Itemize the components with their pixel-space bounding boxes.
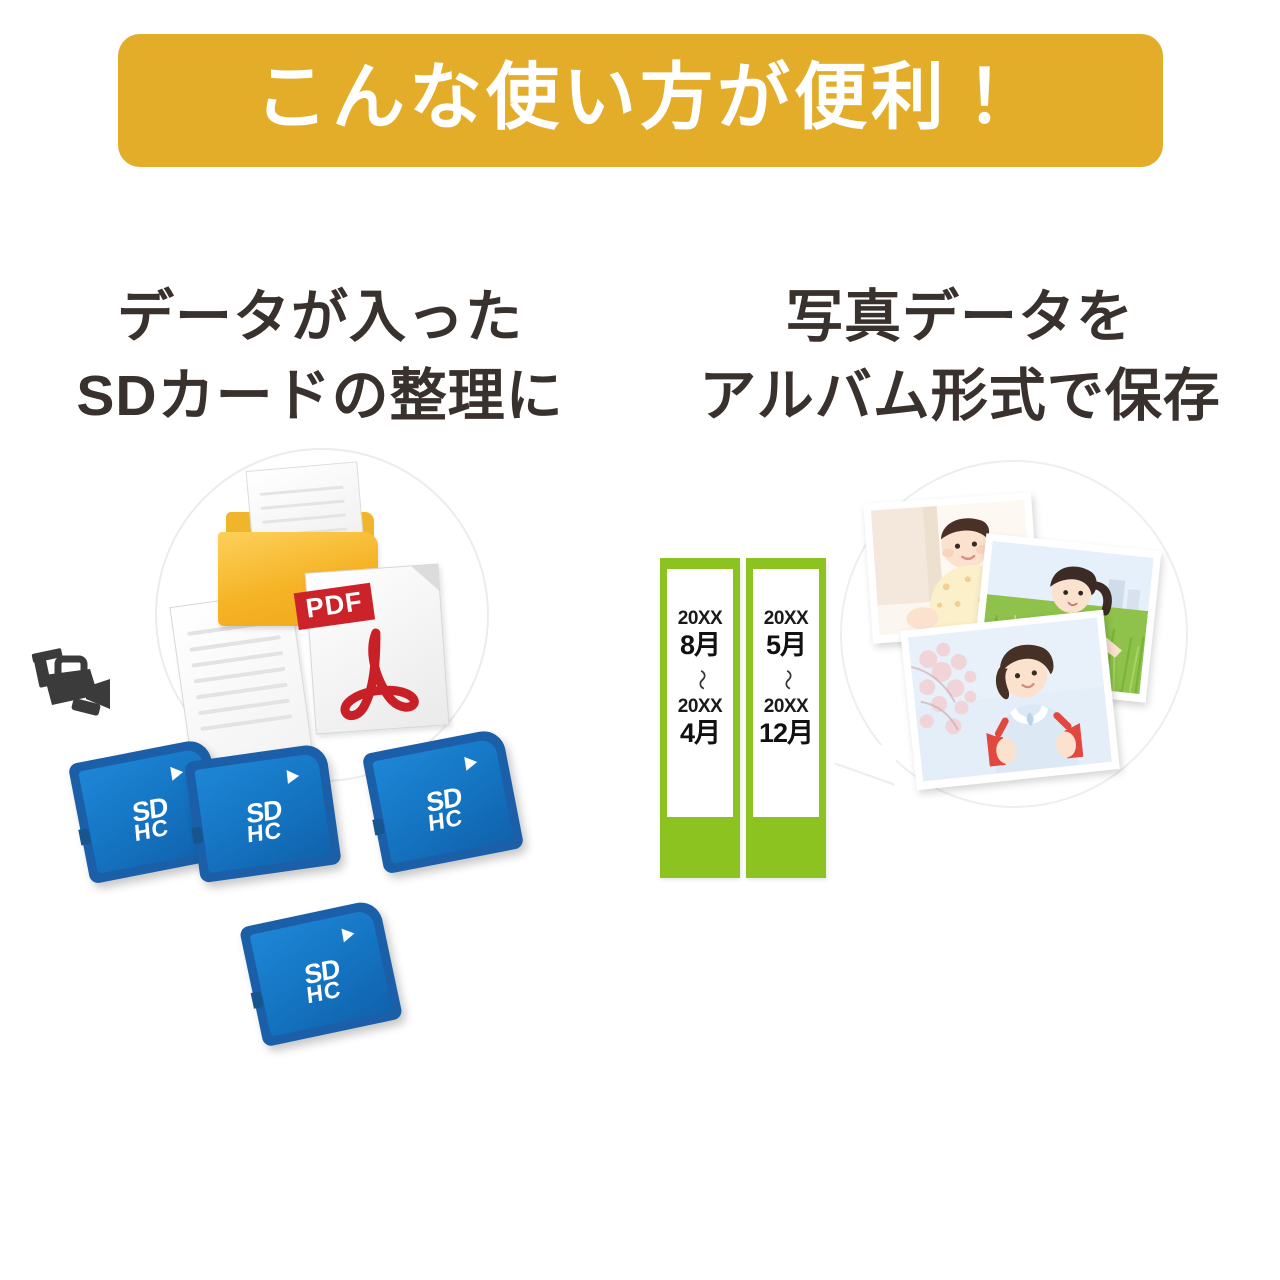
sd-card-4: SD HC	[239, 899, 403, 1048]
header-banner-title: こんな使い方が便利！	[255, 61, 1025, 140]
sd-card-logo: SD HC	[382, 777, 507, 842]
spine-end-year: 20XX	[678, 697, 722, 718]
left-illustration: PDF SD HC	[0, 430, 640, 1130]
binder-spine-left-label: 20XX 8月 〜 20XX 4月	[667, 569, 733, 817]
spine-end-year: 20XX	[764, 697, 808, 718]
right-column-heading: 写真データを アルバム形式で保存	[640, 278, 1280, 435]
left-column-heading: データが入った SDカードの整理に	[0, 278, 640, 435]
left-heading-line1: データが入った	[117, 285, 523, 349]
sd-card-2: SD HC	[184, 743, 342, 884]
spine-end-month: 4月	[680, 718, 720, 749]
binder-spines: 20XX 8月 〜 20XX 4月 20XX 5月 〜 20XX 12月	[660, 558, 835, 878]
sd-corner-marker-icon	[341, 926, 355, 942]
content-columns: データが入った SDカードの整理に	[0, 200, 1280, 1280]
spine-range-separator: 〜	[684, 669, 716, 690]
spine-start-year: 20XX	[764, 609, 808, 630]
file-icon-cluster: PDF	[160, 450, 490, 780]
column-photo-album: 写真データを アルバム形式で保存	[640, 200, 1280, 1280]
camera-icon	[28, 635, 114, 731]
right-illustration: 20XX 8月 〜 20XX 4月 20XX 5月 〜 20XX 12月	[640, 430, 1280, 1130]
right-heading-line1: 写真データを	[786, 285, 1134, 349]
spine-start-month: 5月	[766, 630, 806, 661]
speech-bubble-tail	[834, 740, 896, 784]
spine-start-year: 20XX	[678, 609, 722, 630]
sd-card-logo: SD HC	[260, 947, 386, 1014]
sd-card-logo: SD HC	[202, 792, 326, 850]
acrobat-logo-icon	[327, 616, 430, 731]
sd-card-3: SD HC	[362, 728, 525, 875]
sd-corner-marker-icon	[170, 765, 184, 781]
spine-start-month: 8月	[680, 630, 720, 661]
sd-corner-marker-icon	[464, 755, 478, 771]
left-heading-line2: SDカードの整理に	[0, 357, 640, 436]
sd-corner-marker-icon	[287, 769, 300, 784]
binder-spine-right: 20XX 5月 〜 20XX 12月	[746, 558, 826, 878]
header-banner-area: こんな使い方が便利！	[0, 0, 1280, 200]
header-banner: こんな使い方が便利！	[118, 34, 1163, 167]
pdf-document-icon: PDF	[305, 564, 450, 735]
right-heading-line2: アルバム形式で保存	[640, 357, 1280, 436]
photo-girl-with-backpack	[900, 610, 1120, 790]
page-fold-corner	[411, 565, 439, 593]
binder-spine-left: 20XX 8月 〜 20XX 4月	[660, 558, 740, 878]
spine-range-separator: 〜	[770, 669, 802, 690]
spine-end-month: 12月	[759, 718, 813, 749]
binder-spine-right-label: 20XX 5月 〜 20XX 12月	[753, 569, 819, 817]
column-sd-organize: データが入った SDカードの整理に	[0, 200, 640, 1280]
